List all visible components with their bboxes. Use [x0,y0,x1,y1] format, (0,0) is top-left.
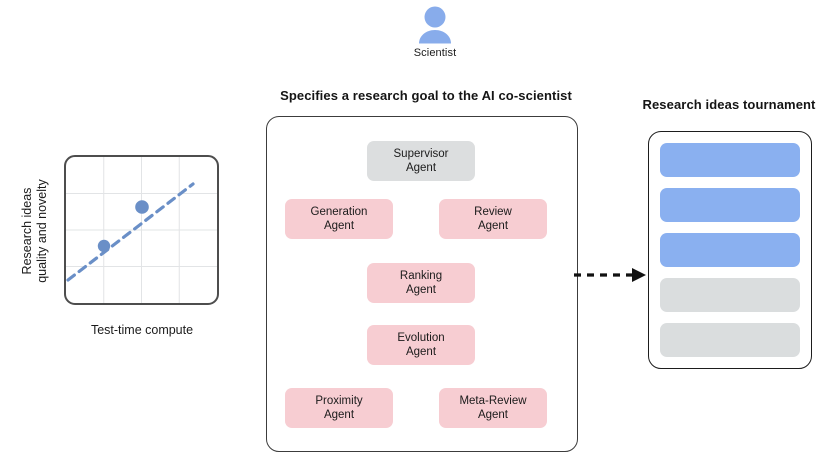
dashed-arrow-right-icon [574,265,648,285]
tournament-idea-bar[interactable] [660,188,800,222]
chart-trend-line [68,184,193,280]
agent-ranking[interactable]: Ranking Agent [367,263,475,303]
agent-generation[interactable]: Generation Agent [285,199,393,239]
chart-data-point [135,200,149,214]
chart-data-point [98,240,110,252]
chart-y-axis-label: Research ideas quality and novelty [20,151,50,311]
chart-gridlines [66,157,217,303]
agent-evolution-label: Evolution Agent [397,331,444,359]
agent-review[interactable]: Review Agent [439,199,547,239]
tournament-idea-bar[interactable] [660,233,800,267]
chart-y-axis-label-line1: Research ideas [20,151,35,311]
agent-generation-label: Generation Agent [311,205,368,233]
tournament-idea-bar[interactable] [660,143,800,177]
tournament-title: Research ideas tournament [628,97,830,112]
scientist-block: Scientist [382,4,488,59]
person-avatar-icon [413,4,457,44]
agent-meta-review-label: Meta-Review Agent [459,394,526,422]
ai-co-scientist-container: Supervisor Agent Generation Agent Review… [266,116,578,452]
tournament-idea-bar[interactable] [660,278,800,312]
agent-supervisor-label: Supervisor Agent [394,147,449,175]
agent-review-label: Review Agent [474,205,512,233]
research-quality-chart: Research ideas quality and novelty Test-… [6,150,220,355]
scientist-label: Scientist [382,47,488,59]
agent-proximity-label: Proximity Agent [315,394,362,422]
chart-x-axis-label: Test-time compute [46,323,238,337]
chart-svg [66,157,217,303]
agent-ranking-label: Ranking Agent [400,269,442,297]
agent-supervisor[interactable]: Supervisor Agent [367,141,475,181]
agent-meta-review[interactable]: Meta-Review Agent [439,388,547,428]
agent-evolution[interactable]: Evolution Agent [367,325,475,365]
agent-proximity[interactable]: Proximity Agent [285,388,393,428]
chart-y-axis-label-line2: quality and novelty [35,151,50,311]
research-ideas-tournament-panel [648,131,812,369]
chart-plot-area [64,155,219,305]
tournament-idea-bar[interactable] [660,323,800,357]
system-title: Specifies a research goal to the AI co-s… [252,88,600,103]
